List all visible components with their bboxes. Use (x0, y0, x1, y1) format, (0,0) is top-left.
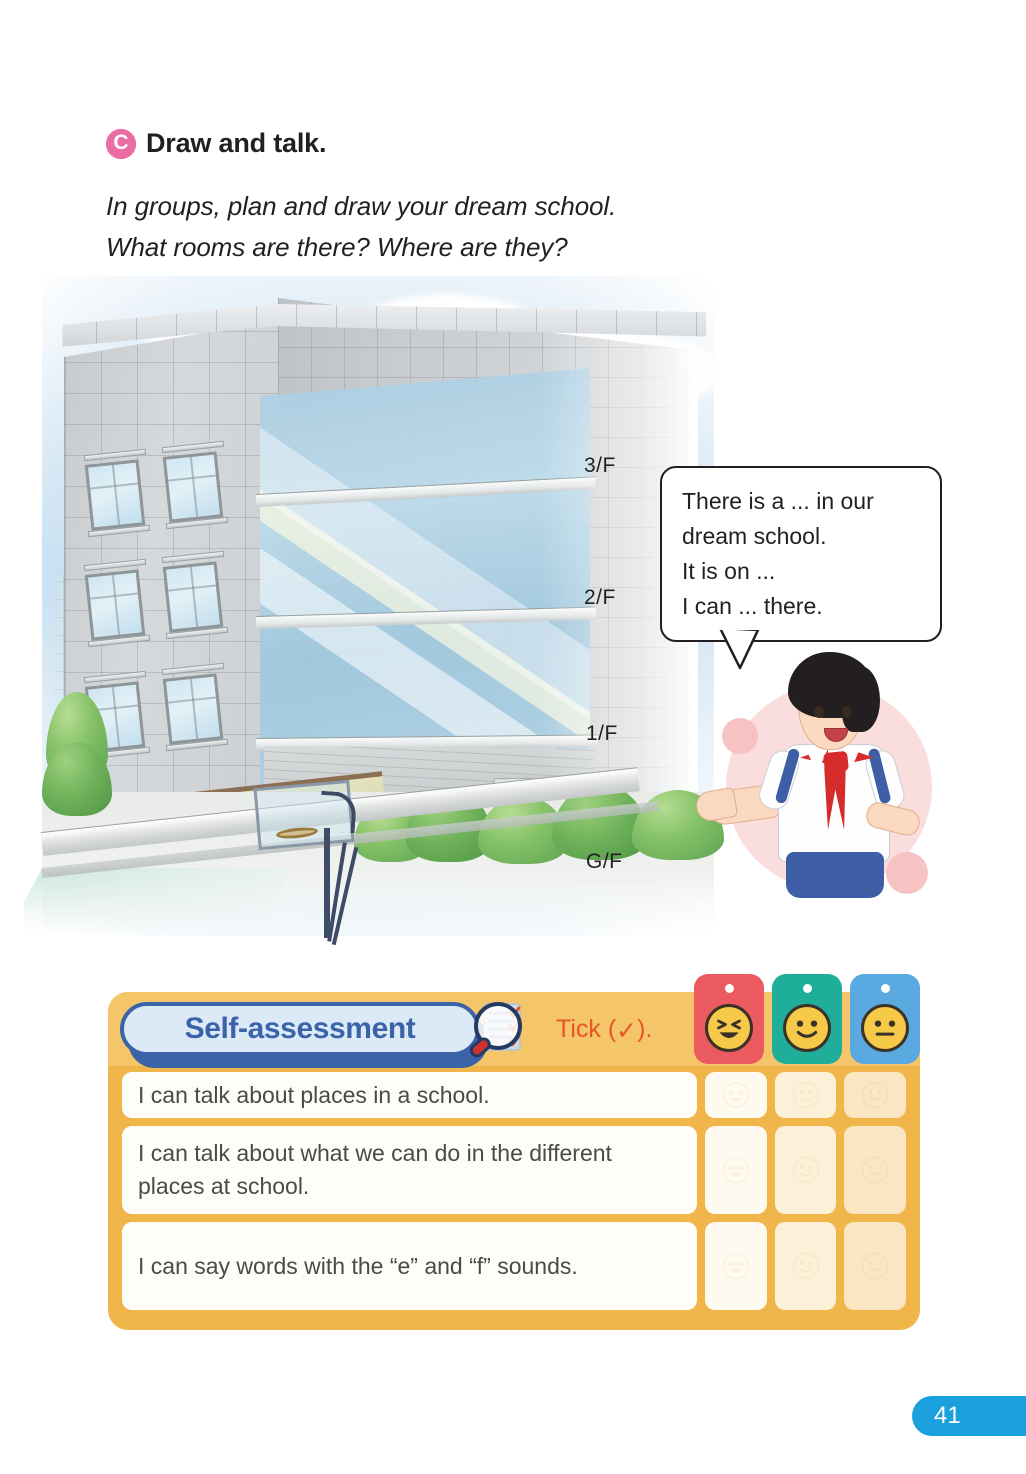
tab-dot-icon (881, 984, 890, 993)
tick-label-start: Tick ( (556, 1015, 616, 1043)
laughing-face-icon (721, 1155, 751, 1185)
decor-dot (722, 718, 758, 754)
textbook-page: C Draw and talk. In groups, plan and dra… (0, 0, 1026, 1474)
task-title: Draw and talk. (146, 128, 326, 159)
boy-shorts (786, 852, 884, 898)
floor-label-gf: G/F (586, 850, 623, 874)
laughing-face-icon (705, 1004, 753, 1052)
smiling-face-icon (783, 1004, 831, 1052)
page-number: 41 (934, 1402, 961, 1430)
check-icon: ✓ (616, 1016, 637, 1046)
rating-cell-ok[interactable] (844, 1222, 906, 1310)
magnifier-checklist-icon (460, 996, 540, 1068)
boy-eye (814, 706, 824, 718)
window (163, 561, 224, 632)
speech-bubble-text: There is a ... in our dream school. It i… (682, 484, 922, 624)
boy-hair (842, 666, 880, 732)
tab-dot-icon (803, 984, 812, 993)
task-heading: C Draw and talk. (106, 128, 326, 159)
window (85, 569, 146, 640)
window (163, 451, 224, 522)
rating-tab-good[interactable] (772, 974, 842, 1064)
neutral-face-icon (860, 1251, 890, 1281)
self-assessment-row: I can talk about places in a school. (122, 1072, 906, 1118)
statement-text: I can talk about places in a school. (122, 1072, 697, 1118)
task-instruction: In groups, plan and draw your dream scho… (106, 186, 886, 268)
statement-text: I can talk about what we can do in the d… (122, 1126, 697, 1214)
floor-label-2f: 2/F (584, 586, 616, 610)
rating-cell-good[interactable] (775, 1072, 837, 1118)
hoop-post (324, 828, 330, 938)
rating-cell-ok[interactable] (844, 1072, 906, 1118)
rating-cell-very-good[interactable] (705, 1222, 767, 1310)
neutral-face-icon (860, 1080, 890, 1110)
self-assessment-grid: I can talk about places in a school. (122, 1072, 906, 1316)
rating-tab-very-good[interactable] (694, 974, 764, 1064)
boy-character (690, 640, 940, 952)
rating-tab-ok[interactable] (850, 974, 920, 1064)
decor-dot (886, 852, 928, 894)
self-assessment-row: I can talk about what we can do in the d… (122, 1126, 906, 1214)
tick-instruction: Tick (✓). (556, 1014, 652, 1044)
floor-label-3f: 3/F (584, 454, 616, 478)
self-assessment-title: Self-assessment (185, 1012, 416, 1046)
laughing-face-icon (721, 1080, 751, 1110)
smiling-face-icon (791, 1080, 821, 1110)
rating-cell-ok[interactable] (844, 1126, 906, 1214)
statement-text: I can say words with the “e” and “f” sou… (122, 1222, 697, 1310)
smiling-face-icon (791, 1251, 821, 1281)
tab-dot-icon (725, 984, 734, 993)
task-letter: C (113, 132, 128, 153)
self-assessment-panel: Self-assessment Tick (✓). (108, 992, 920, 1330)
rating-cell-very-good[interactable] (705, 1072, 767, 1118)
neutral-face-icon (861, 1004, 909, 1052)
floor-label-1f: 1/F (586, 722, 618, 746)
window (85, 459, 146, 530)
rating-cell-good[interactable] (775, 1126, 837, 1214)
boy-eye (842, 706, 852, 718)
sports-court (24, 868, 292, 938)
rating-cell-good[interactable] (775, 1222, 837, 1310)
self-assessment-row: I can say words with the “e” and “f” sou… (122, 1222, 906, 1310)
page-number-badge: 41 (912, 1396, 1026, 1436)
smiling-face-icon (791, 1155, 821, 1185)
neutral-face-icon (860, 1155, 890, 1185)
self-assessment-title-pill: Self-assessment (120, 1002, 480, 1056)
window (163, 673, 224, 744)
rating-cell-very-good[interactable] (705, 1126, 767, 1214)
tick-label-end: ). (637, 1015, 652, 1043)
speech-bubble: There is a ... in our dream school. It i… (660, 466, 942, 642)
laughing-face-icon (721, 1251, 751, 1281)
task-letter-badge: C (106, 129, 136, 159)
